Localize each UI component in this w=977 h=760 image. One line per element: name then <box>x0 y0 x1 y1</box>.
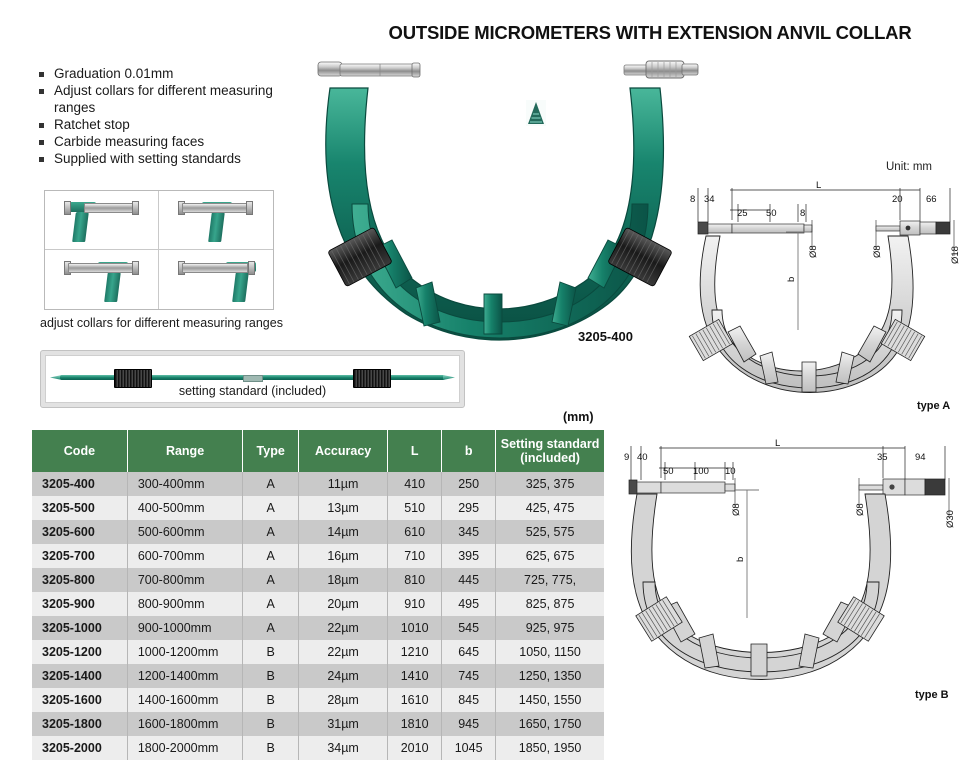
cell-b: 445 <box>442 568 496 592</box>
anvil-collar-b <box>637 482 661 493</box>
cell-accuracy: 20µm <box>299 592 388 616</box>
cell-setting-standard: 525, 575 <box>496 520 604 544</box>
cell-accuracy: 11µm <box>299 472 388 496</box>
cell-accuracy: 16µm <box>299 544 388 568</box>
cell-type: B <box>243 664 299 688</box>
collar-photo-1 <box>45 191 159 250</box>
cell-range: 1600-1800mm <box>127 712 242 736</box>
cell-l: 1410 <box>388 664 442 688</box>
anvil-collar-a <box>708 224 732 233</box>
cell-l: 1610 <box>388 688 442 712</box>
column-header-accuracy: Accuracy <box>299 430 388 472</box>
column-header-range: Range <box>127 430 242 472</box>
cell-code: 3205-400 <box>32 472 127 496</box>
dim-10-b: 10 <box>725 466 736 477</box>
cell-type: B <box>243 688 299 712</box>
dim-94-b: 94 <box>915 452 926 463</box>
cell-b: 395 <box>442 544 496 568</box>
brand-logo <box>526 100 546 126</box>
dim-L-a: L <box>816 180 821 191</box>
cell-range: 400-500mm <box>127 496 242 520</box>
cell-range: 1000-1200mm <box>127 640 242 664</box>
cell-setting-standard: 625, 675 <box>496 544 604 568</box>
dim-25-a: 25 <box>737 208 748 219</box>
dim-8-a: 8 <box>690 194 695 205</box>
cell-code: 3205-1800 <box>32 712 127 736</box>
ratchet-b <box>925 479 945 495</box>
cell-l: 910 <box>388 592 442 616</box>
anvil-face-b <box>629 480 637 494</box>
dia-8b-a: Ø8 <box>872 245 883 258</box>
type-b-svg: 9 40 50 100 10 L 35 94 Ø8 Ø8 Ø30 b <box>615 432 977 692</box>
bullet-icon <box>39 140 44 145</box>
table-row: 3205-900800-900mmA20µm910495825, 875 <box>32 592 604 616</box>
cell-accuracy: 24µm <box>299 664 388 688</box>
cell-type: B <box>243 736 299 760</box>
type-a-drawing: 8 34 25 50 8 L 20 66 Ø8 Ø8 Ø18 b <box>620 170 977 410</box>
cell-range: 500-600mm <box>127 520 242 544</box>
specifications-table: Code Range Type Accuracy L b Setting sta… <box>32 430 604 760</box>
dim-b-a: b <box>786 277 797 282</box>
table-row: 3205-700600-700mmA16µm710395625, 675 <box>32 544 604 568</box>
column-header-l: L <box>388 430 442 472</box>
setting-standard-image: setting standard (included) <box>45 355 460 403</box>
bullet-icon <box>39 157 44 162</box>
cell-accuracy: 31µm <box>299 712 388 736</box>
table-row: 3205-18001600-1800mmB31µm18109451650, 17… <box>32 712 604 736</box>
cell-range: 700-800mm <box>127 568 242 592</box>
list-item: Graduation 0.01mm <box>38 66 288 83</box>
cell-b: 1045 <box>442 736 496 760</box>
rod-tip-b <box>725 484 735 491</box>
ratchet-stop <box>682 64 698 75</box>
table-row: 3205-12001000-1200mmB22µm12106451050, 11… <box>32 640 604 664</box>
standard-tip-right <box>443 375 455 380</box>
cell-range: 900-1000mm <box>127 616 242 640</box>
cell-l: 810 <box>388 568 442 592</box>
cell-code: 3205-1400 <box>32 664 127 688</box>
cell-type: A <box>243 496 299 520</box>
setting-standard-line2: (included) <box>498 451 602 465</box>
micrometer-anvil-illustration <box>176 260 256 302</box>
cell-l: 1010 <box>388 616 442 640</box>
dim-9-b: 9 <box>624 452 629 463</box>
cell-code: 3205-600 <box>32 520 127 544</box>
cell-setting-standard: 425, 475 <box>496 496 604 520</box>
cell-code: 3205-700 <box>32 544 127 568</box>
table-row: 3205-16001400-1600mmB28µm16108451450, 15… <box>32 688 604 712</box>
spindle-b <box>859 485 883 490</box>
dim-b-b: b <box>735 557 746 562</box>
collar-photo-3 <box>45 250 159 309</box>
cell-range: 1200-1400mm <box>127 664 242 688</box>
setting-standard-caption: setting standard (included) <box>46 384 459 398</box>
barrel-detail-a <box>906 226 911 231</box>
extension-rod-left <box>340 64 416 76</box>
table-row: 3205-400300-400mmA11µm410250325, 375 <box>32 472 604 496</box>
cell-setting-standard: 325, 375 <box>496 472 604 496</box>
cell-type: A <box>243 520 299 544</box>
table-body: 3205-400300-400mmA11µm410250325, 3753205… <box>32 472 604 760</box>
cell-b: 645 <box>442 640 496 664</box>
page-title: OUTSIDE MICROMETERS WITH EXTENSION ANVIL… <box>330 22 970 44</box>
thimble-a <box>920 222 936 234</box>
feature-text: Carbide measuring faces <box>54 134 204 149</box>
dim-40-b: 40 <box>637 452 648 463</box>
spindle-a <box>876 226 900 231</box>
extension-rod-b1 <box>661 482 725 493</box>
table-header-row: Code Range Type Accuracy L b Setting sta… <box>32 430 604 472</box>
dia-8b-b: Ø8 <box>855 503 866 516</box>
cell-setting-standard: 1250, 1350 <box>496 664 604 688</box>
cell-accuracy: 13µm <box>299 496 388 520</box>
cell-type: A <box>243 544 299 568</box>
cell-b: 295 <box>442 496 496 520</box>
cell-setting-standard: 1450, 1550 <box>496 688 604 712</box>
cell-b: 250 <box>442 472 496 496</box>
cell-code: 3205-1000 <box>32 616 127 640</box>
dim-50-b: 50 <box>663 466 674 477</box>
table-row: 3205-800700-800mmA18µm810445725, 775, <box>32 568 604 592</box>
list-item: Supplied with setting standards <box>38 151 288 168</box>
cell-range: 600-700mm <box>127 544 242 568</box>
cell-type: B <box>243 640 299 664</box>
dim-34-a: 34 <box>704 194 715 205</box>
cell-code: 3205-2000 <box>32 736 127 760</box>
anvil-face-a <box>698 222 708 234</box>
cell-setting-standard: 925, 975 <box>496 616 604 640</box>
table-row: 3205-600500-600mmA14µm610345525, 575 <box>32 520 604 544</box>
dia-30-b: Ø30 <box>945 510 956 528</box>
barrel-detail-b <box>889 484 894 489</box>
cell-accuracy: 14µm <box>299 520 388 544</box>
list-item: Adjust collars for different measuring r… <box>38 83 288 116</box>
thimble-b <box>905 479 925 495</box>
feature-text: Graduation 0.01mm <box>54 66 173 81</box>
bullet-icon <box>39 89 44 94</box>
setting-standard-panel: setting standard (included) <box>40 350 465 408</box>
dim-66-a: 66 <box>926 194 937 205</box>
type-b-drawing: 9 40 50 100 10 L 35 94 Ø8 Ø8 Ø30 b <box>615 432 977 692</box>
cell-type: A <box>243 616 299 640</box>
dia-8-a: Ø8 <box>808 245 819 258</box>
cell-setting-standard: 1050, 1150 <box>496 640 604 664</box>
list-item: Carbide measuring faces <box>38 134 288 151</box>
cell-accuracy: 22µm <box>299 616 388 640</box>
micrometer-anvil-illustration <box>176 200 256 242</box>
cell-setting-standard: 725, 775, <box>496 568 604 592</box>
cell-type: A <box>243 592 299 616</box>
standard-midsection <box>243 375 263 382</box>
cell-b: 745 <box>442 664 496 688</box>
cell-range: 1800-2000mm <box>127 736 242 760</box>
table-row: 3205-20001800-2000mmB34µm201010451850, 1… <box>32 736 604 760</box>
setting-standard-line1: Setting standard <box>498 437 602 451</box>
column-header-b: b <box>442 430 496 472</box>
list-item: Ratchet stop <box>38 117 288 134</box>
feature-list: Graduation 0.01mm Adjust collars for dif… <box>38 66 288 168</box>
bullet-icon <box>39 72 44 77</box>
dim-L-b: L <box>775 438 780 449</box>
cell-type: B <box>243 712 299 736</box>
cell-l: 510 <box>388 496 442 520</box>
cell-range: 800-900mm <box>127 592 242 616</box>
table-row: 3205-1000900-1000mmA22µm1010545925, 975 <box>32 616 604 640</box>
dim-8b-a: 8 <box>800 208 805 219</box>
cell-accuracy: 18µm <box>299 568 388 592</box>
cell-setting-standard: 1650, 1750 <box>496 712 604 736</box>
cell-l: 610 <box>388 520 442 544</box>
table-row: 3205-14001200-1400mmB24µm14107451250, 13… <box>32 664 604 688</box>
cell-range: 1400-1600mm <box>127 688 242 712</box>
cell-b: 495 <box>442 592 496 616</box>
cell-b: 545 <box>442 616 496 640</box>
cell-b: 345 <box>442 520 496 544</box>
collar-positions-image <box>44 190 274 310</box>
ratchet-a <box>936 222 950 234</box>
column-header-setting-standard: Setting standard (included) <box>496 430 604 472</box>
column-header-code: Code <box>32 430 127 472</box>
cell-b: 945 <box>442 712 496 736</box>
type-b-label: type B <box>915 689 949 701</box>
cell-l: 1810 <box>388 712 442 736</box>
cell-code: 3205-800 <box>32 568 127 592</box>
cell-l: 710 <box>388 544 442 568</box>
cell-code: 3205-1600 <box>32 688 127 712</box>
cell-setting-standard: 825, 875 <box>496 592 604 616</box>
rod-end-left <box>412 63 420 77</box>
cell-type: A <box>243 472 299 496</box>
cell-l: 410 <box>388 472 442 496</box>
cell-setting-standard: 1850, 1950 <box>496 736 604 760</box>
cell-code: 3205-500 <box>32 496 127 520</box>
cell-accuracy: 28µm <box>299 688 388 712</box>
feature-text: Supplied with setting standards <box>54 151 241 166</box>
cell-l: 1210 <box>388 640 442 664</box>
collar-photo-2 <box>159 191 273 250</box>
dim-50-a: 50 <box>766 208 777 219</box>
dia-18-a: Ø18 <box>950 246 961 264</box>
mm-unit-note: (mm) <box>563 410 594 424</box>
cell-code: 3205-1200 <box>32 640 127 664</box>
anvil-face-left <box>318 62 342 76</box>
feature-text: Ratchet stop <box>54 117 130 132</box>
dim-35-b: 35 <box>877 452 888 463</box>
feature-text: Adjust collars for different measuring r… <box>54 83 273 115</box>
cell-accuracy: 22µm <box>299 640 388 664</box>
dim-20-a: 20 <box>892 194 903 205</box>
type-a-label: type A <box>917 400 950 412</box>
type-a-svg: 8 34 25 50 8 L 20 66 Ø8 Ø8 Ø18 b <box>620 170 977 410</box>
micrometer-anvil-illustration <box>62 260 142 302</box>
table-row: 3205-500400-500mmA13µm510295425, 475 <box>32 496 604 520</box>
collar-photo-4 <box>159 250 273 309</box>
rod-tip-a <box>804 225 812 232</box>
micrometer-anvil-illustration <box>62 200 142 242</box>
cell-b: 845 <box>442 688 496 712</box>
bullet-icon <box>39 123 44 128</box>
cell-l: 2010 <box>388 736 442 760</box>
dim-100-b: 100 <box>693 466 709 477</box>
dia-8-b: Ø8 <box>731 503 742 516</box>
cell-range: 300-400mm <box>127 472 242 496</box>
cell-accuracy: 34µm <box>299 736 388 760</box>
cell-code: 3205-900 <box>32 592 127 616</box>
cell-type: A <box>243 568 299 592</box>
column-header-type: Type <box>243 430 299 472</box>
